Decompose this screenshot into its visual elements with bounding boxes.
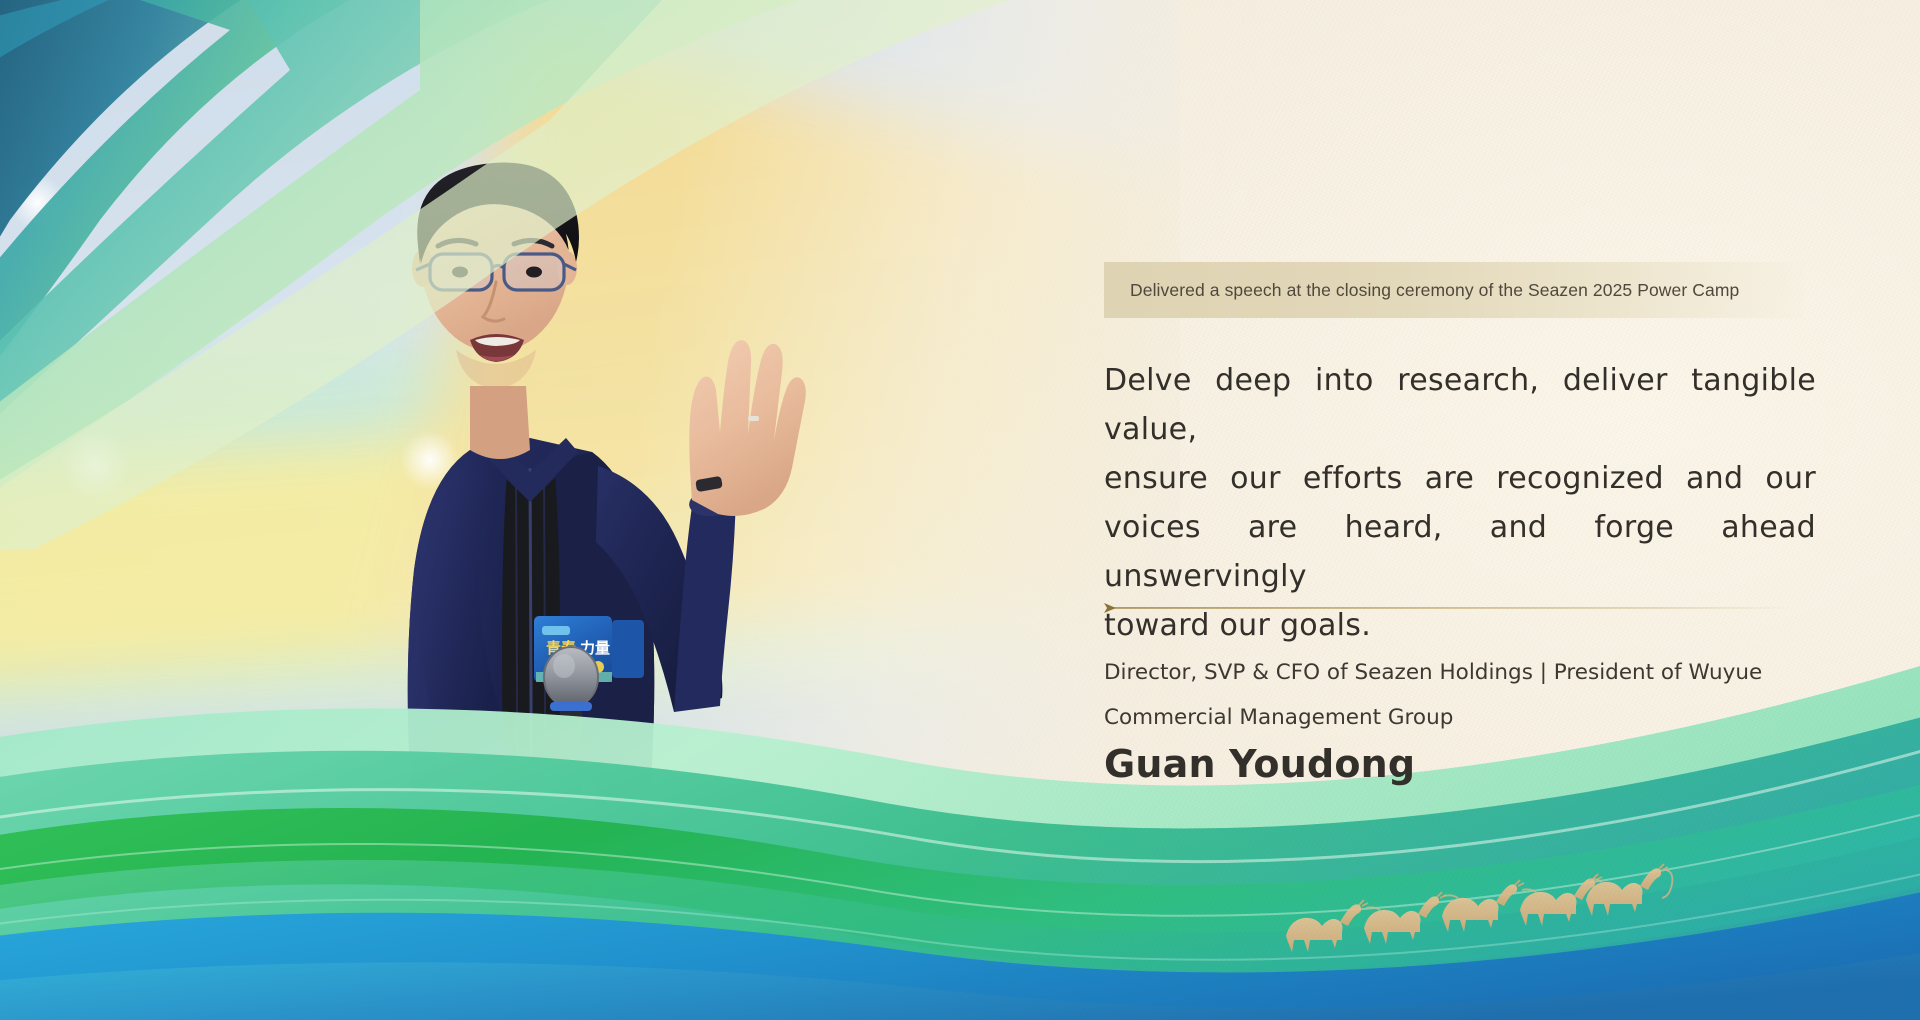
speaker-name: Guan Youdong — [1104, 742, 1415, 786]
event-caption-bar: Delivered a speech at the closing ceremo… — [1104, 262, 1804, 318]
quote-line: Delve deep into research, deliver tangib… — [1104, 356, 1816, 454]
poster-canvas: 青春 力量 — [0, 0, 1920, 1020]
quote-line: ensure our efforts are recognized and ou… — [1104, 454, 1816, 503]
event-caption-text: Delivered a speech at the closing ceremo… — [1104, 280, 1739, 301]
role-line: Commercial Management Group — [1104, 695, 1764, 740]
role-line: Director, SVP & CFO of Seazen Holdings |… — [1104, 650, 1764, 695]
role-text: Director, SVP & CFO of Seazen Holdings |… — [1104, 650, 1764, 740]
gold-arrow-divider — [1104, 603, 1794, 613]
content-panel: Delivered a speech at the closing ceremo… — [1104, 0, 1864, 1020]
quote-line: voices are heard, and forge ahead unswer… — [1104, 503, 1816, 601]
